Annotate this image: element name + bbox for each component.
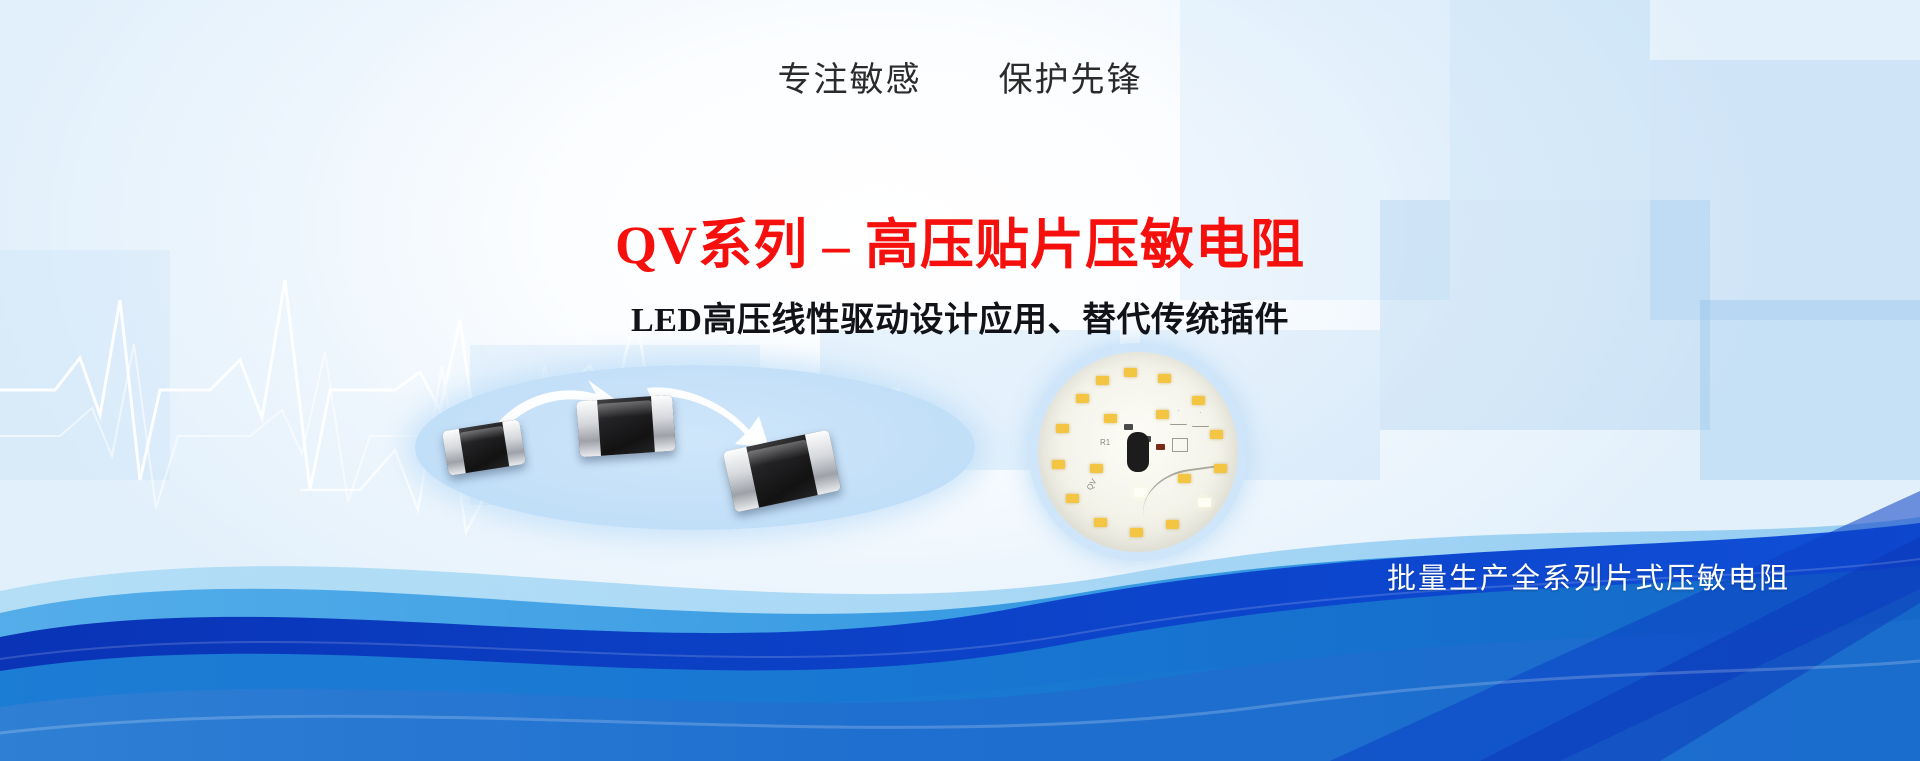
led-pcb-module: QV R1: [1038, 352, 1238, 552]
banner-tagline: 专注敏感 保护先锋: [0, 52, 1920, 101]
smd-varistor-medium: [576, 395, 676, 458]
product-banner: QV R1 专注敏感 保护先锋 QV系列 – 高压贴片压敏电阻 LED高压线性驱…: [0, 0, 1920, 761]
banner-title: QV系列 – 高压贴片压敏电阻: [0, 200, 1920, 279]
blue-wave-graphic: [0, 341, 1920, 761]
tagline-left-text: 专注敏感: [778, 62, 922, 99]
banner-footnote: 批量生产全系列片式压敏电阻: [0, 555, 1790, 597]
tagline-right-text: 保护先锋: [999, 62, 1143, 99]
banner-subtitle: LED高压线性驱动设计应用、替代传统插件: [0, 292, 1920, 341]
